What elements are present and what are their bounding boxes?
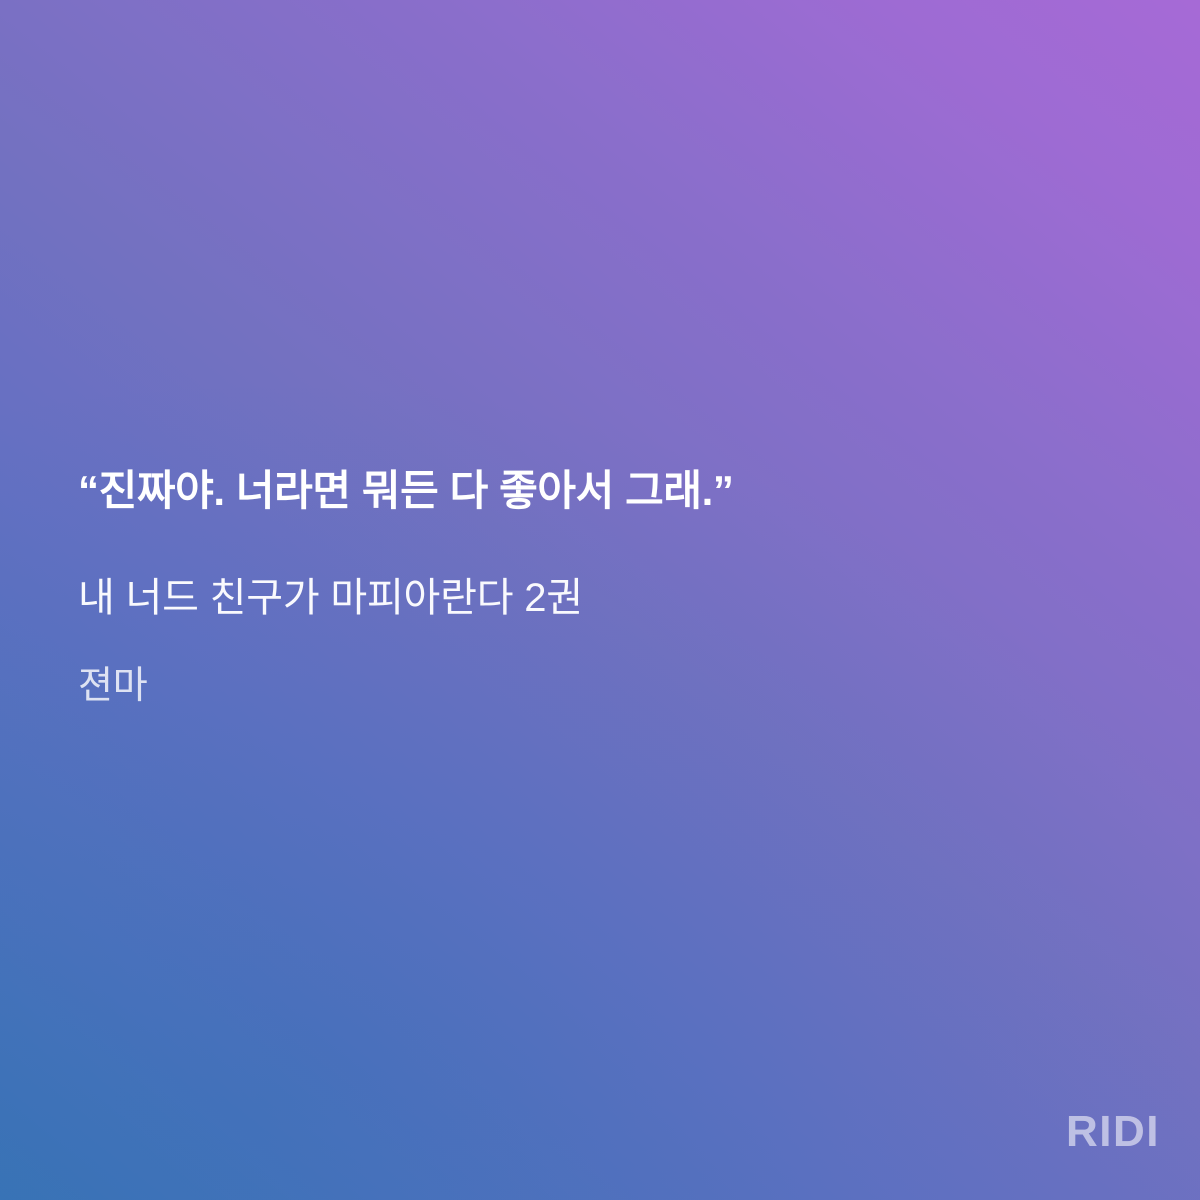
book-author: 젼마 — [78, 664, 1122, 710]
ridi-logo: RIDI — [1066, 1110, 1160, 1154]
quote-card-content: “진짜야. 너라면 뭐든 다 좋아서 그래.” 내 너드 친구가 마피아란다 2… — [78, 466, 1122, 709]
quote-text: “진짜야. 너라면 뭐든 다 좋아서 그래.” — [78, 466, 1122, 516]
quote-card: “진짜야. 너라면 뭐든 다 좋아서 그래.” 내 너드 친구가 마피아란다 2… — [0, 0, 1200, 1200]
book-title: 내 너드 친구가 마피아란다 2권 — [78, 574, 1122, 622]
